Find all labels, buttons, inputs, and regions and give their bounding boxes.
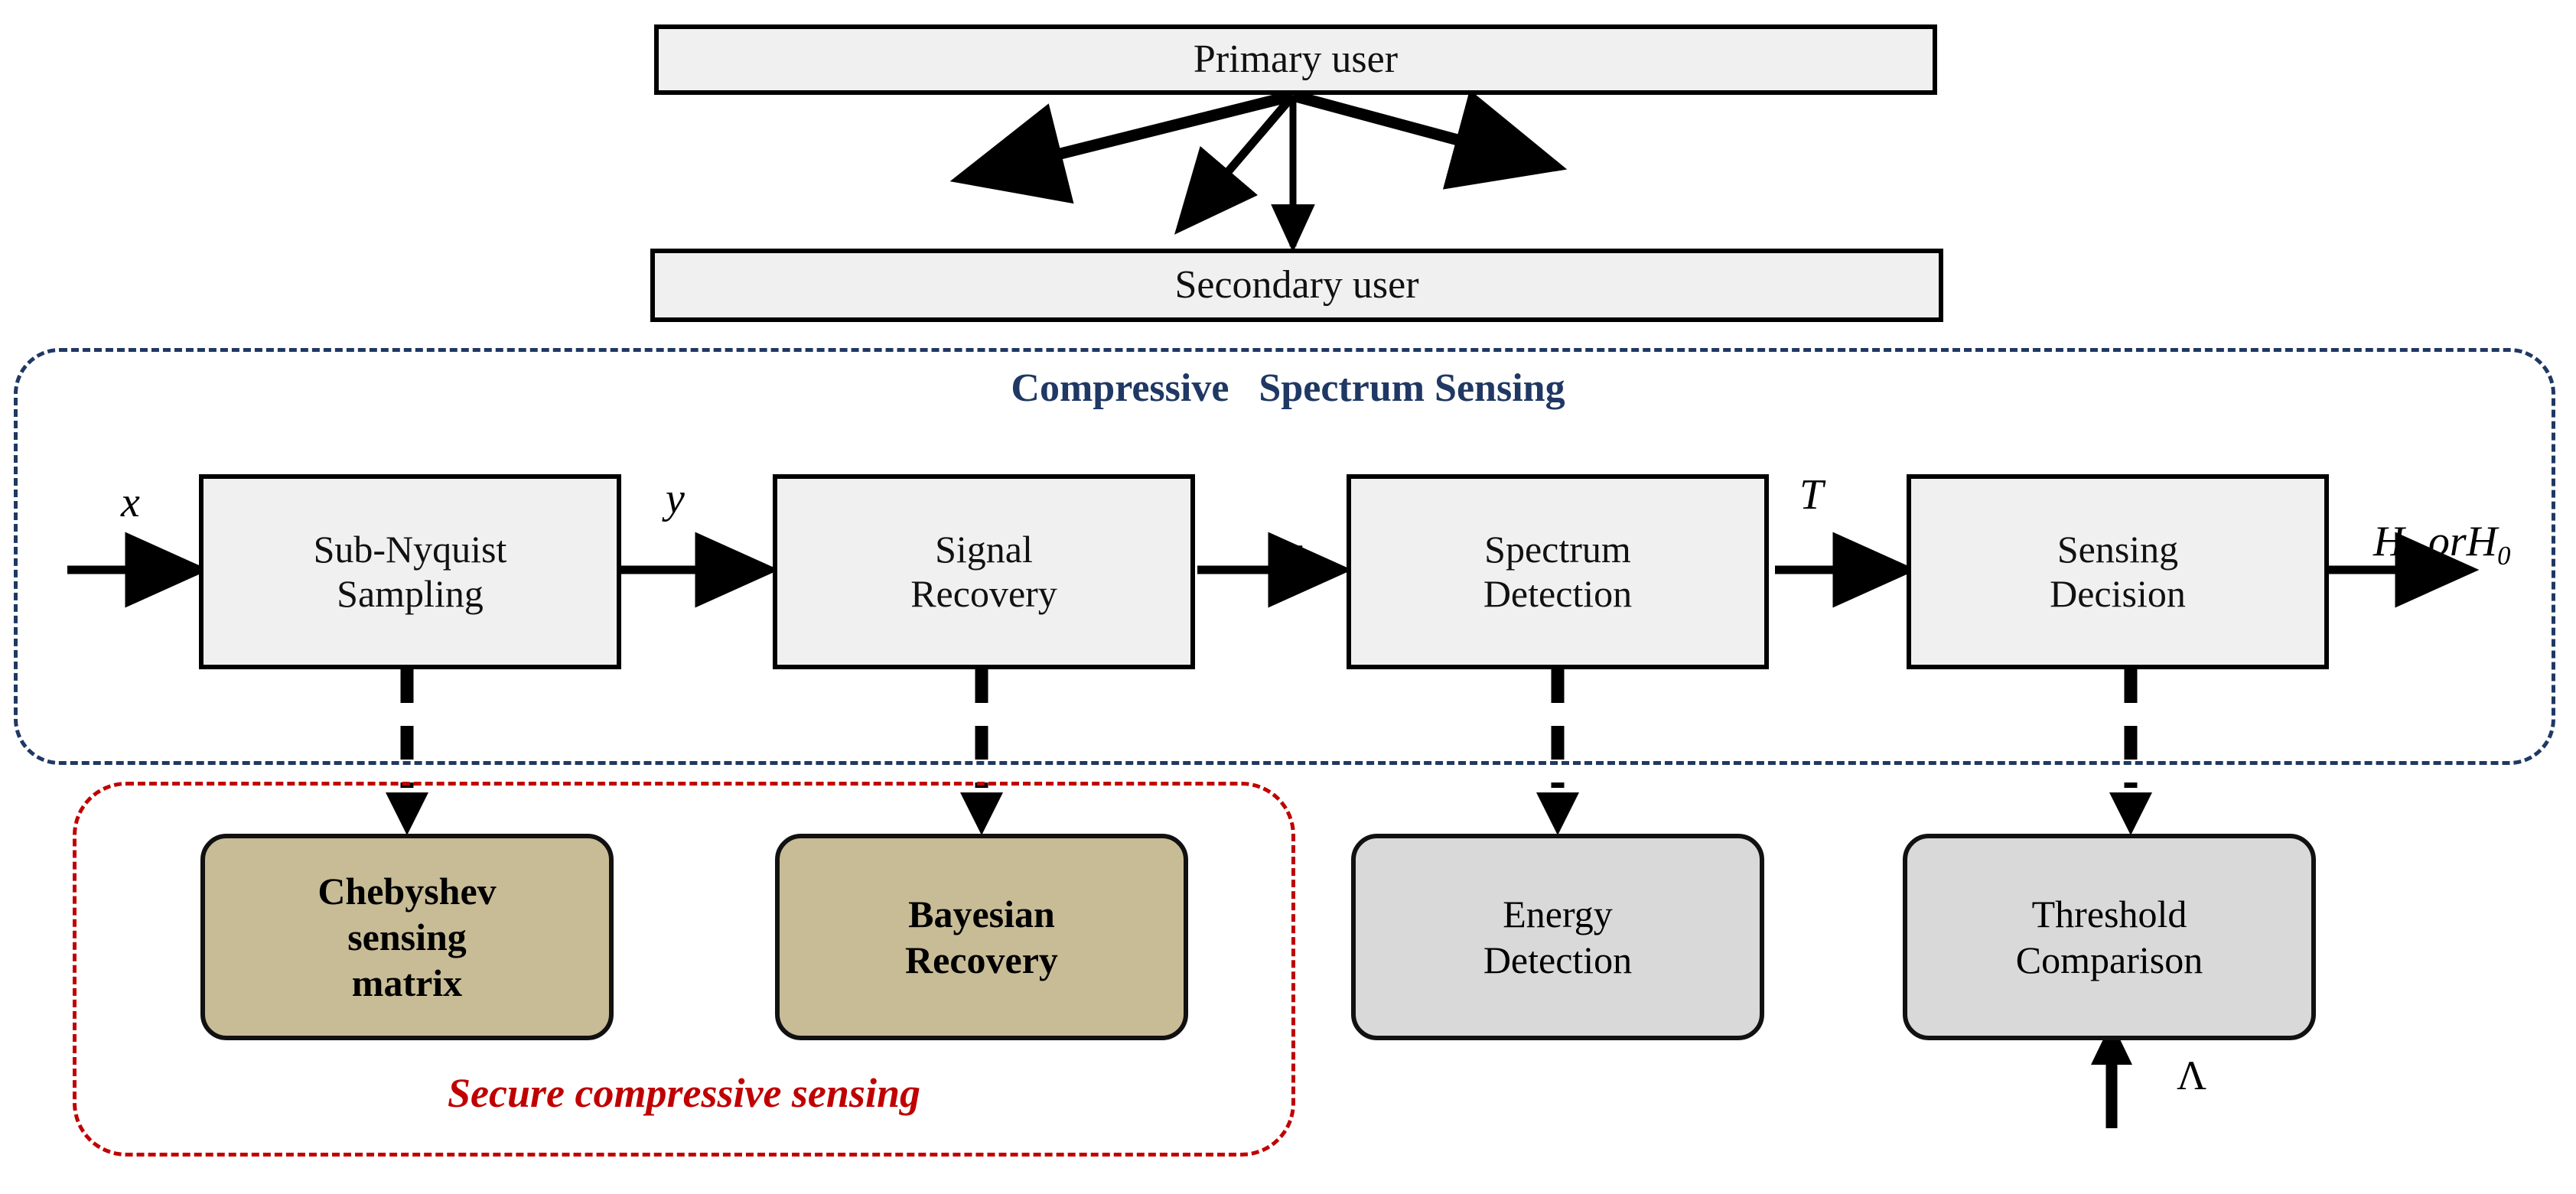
node-signal-recovery-label-2: Recovery [910,572,1057,617]
node-energy-detection[interactable]: Energy Detection [1351,834,1764,1040]
signal-label-y: y [666,474,685,523]
node-chebyshev-sensing-matrix-label-3: matrix [318,960,496,1006]
node-energy-detection-label-2: Detection [1483,937,1632,983]
node-threshold-comparison-label-1: Threshold [2016,891,2203,937]
signal-label-t: T [1799,470,1823,519]
node-chebyshev-sensing-matrix-label-2: sensing [318,914,496,960]
node-bayesian-recovery-label-2: Recovery [905,937,1058,983]
node-sub-nyquist-sampling-label-1: Sub-Nyquist [314,528,507,572]
group-compressive-spectrum-sensing-title: Compressive Spectrum Sensing [0,366,2576,411]
node-primary-user[interactable]: Primary user [654,24,1937,95]
node-chebyshev-sensing-matrix[interactable]: Chebyshev sensing matrix [200,834,614,1040]
node-secondary-user-label: Secondary user [1174,262,1418,308]
signal-label-lambda: Λ [2177,1052,2206,1099]
node-spectrum-detection-label-2: Detection [1483,572,1632,617]
signal-label-x: x [121,478,140,527]
node-sensing-decision-label-2: Decision [2050,572,2186,617]
node-chebyshev-sensing-matrix-label-1: Chebyshev [318,868,496,914]
group-secure-compressive-sensing-title: Secure compressive sensing [73,1069,1295,1117]
node-sub-nyquist-sampling-label-2: Sampling [314,572,507,617]
signal-label-hypotheses: H1 orH0 [2330,468,2510,620]
node-sub-nyquist-sampling[interactable]: Sub-Nyquist Sampling [199,474,621,669]
node-spectrum-detection-label-1: Spectrum [1483,528,1632,572]
node-signal-recovery-label-1: Signal [910,528,1057,572]
node-sensing-decision-label-1: Sensing [2050,528,2186,572]
node-sensing-decision[interactable]: Sensing Decision [1907,474,2329,669]
signal-label-xr-base: x [1284,528,1303,575]
signal-label-xr-sub: r [1303,551,1314,581]
hypothesis-h1-sub: 1 [2404,541,2417,571]
node-bayesian-recovery[interactable]: Bayesian Recovery [775,834,1188,1040]
signal-label-xr: xr [1241,478,1313,630]
node-primary-user-label: Primary user [1194,37,1398,83]
node-threshold-comparison[interactable]: Threshold Comparison [1903,834,2316,1040]
node-spectrum-detection[interactable]: Spectrum Detection [1347,474,1769,669]
node-bayesian-recovery-label-1: Bayesian [905,891,1058,937]
hypothesis-h0-base: H [2467,518,2497,565]
hypothesis-h1-base: H [2373,518,2404,565]
node-signal-recovery[interactable]: Signal Recovery [773,474,1195,669]
node-secondary-user[interactable]: Secondary user [650,249,1943,322]
node-threshold-comparison-label-2: Comparison [2016,937,2203,983]
node-energy-detection-label-1: Energy [1483,891,1632,937]
hypothesis-or: or [2418,518,2467,565]
diagram-canvas: Primary user Secondary user Compressive … [0,0,2576,1194]
hypothesis-h0-sub: 0 [2497,541,2510,571]
